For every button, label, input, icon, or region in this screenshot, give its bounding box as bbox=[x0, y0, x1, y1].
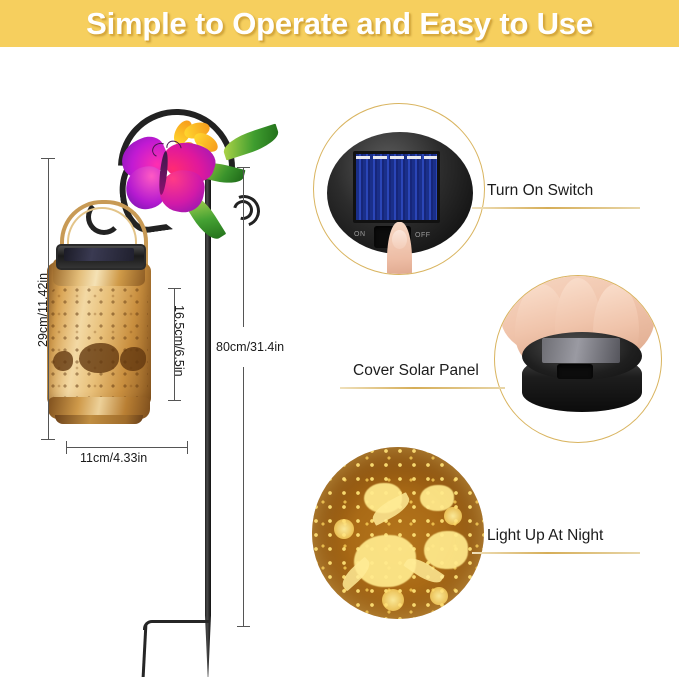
dimension-line-width bbox=[66, 447, 188, 448]
dimension-tick bbox=[237, 626, 250, 627]
lantern-foot bbox=[55, 415, 143, 424]
leaf-ornament-upper bbox=[220, 124, 281, 161]
dimension-line-total-upper bbox=[243, 167, 244, 327]
callout-label-cover-solar-panel: Cover Solar Panel bbox=[353, 362, 479, 380]
callout-image-cover-solar-panel bbox=[494, 275, 662, 443]
stake-foot-leg bbox=[142, 625, 148, 677]
dimension-tick bbox=[168, 288, 181, 289]
solar-panel-cell bbox=[353, 151, 440, 223]
dimension-tick bbox=[168, 400, 181, 401]
callout-image-turn-on-switch: ON OFF bbox=[313, 103, 485, 275]
page-title: Simple to Operate and Easy to Use bbox=[0, 0, 679, 47]
lid-switch-well[interactable] bbox=[557, 364, 593, 379]
product-illustration-panel: 29cm/11.42in 11cm/4.33in 16.5cm/6.5in 80… bbox=[0, 47, 300, 675]
callout-image-light-up-at-night bbox=[312, 447, 484, 619]
dimension-label-ornament: 16.5cm/6.5in bbox=[172, 305, 186, 377]
lantern-solar-panel bbox=[64, 248, 134, 261]
fingernail bbox=[392, 230, 407, 249]
lantern-butterfly-cutout bbox=[79, 343, 119, 373]
dimension-label-total: 80cm/31.4in bbox=[216, 340, 284, 354]
callout-rule-cover-solar-panel bbox=[340, 387, 505, 389]
switch-on-label: ON bbox=[354, 231, 366, 238]
callout-rule-light-up-at-night bbox=[472, 552, 640, 554]
callout-rule-turn-on-switch bbox=[472, 207, 640, 209]
stake-foot-bar bbox=[143, 620, 210, 630]
switch-off-label: OFF bbox=[415, 232, 431, 239]
callout-label-turn-on-switch: Turn On Switch bbox=[487, 182, 593, 200]
dimension-tick bbox=[41, 158, 55, 159]
callout-label-light-up-at-night: Light Up At Night bbox=[487, 527, 603, 545]
dimension-tick bbox=[237, 167, 250, 168]
dome-glow-halo bbox=[312, 447, 484, 619]
dimension-label-width: 11cm/4.33in bbox=[80, 451, 147, 465]
dimension-tick bbox=[41, 439, 55, 440]
lantern-butterfly-cutout bbox=[120, 347, 146, 371]
covered-solar-panel bbox=[542, 338, 620, 363]
dimension-tick bbox=[66, 441, 67, 454]
header-banner: Simple to Operate and Easy to Use bbox=[0, 0, 679, 47]
dimension-line-total-lower bbox=[243, 367, 244, 627]
dimension-tick bbox=[187, 441, 188, 454]
lantern-butterfly-cutout bbox=[53, 351, 73, 371]
dimension-label-height: 29cm/11.42in bbox=[36, 273, 50, 347]
